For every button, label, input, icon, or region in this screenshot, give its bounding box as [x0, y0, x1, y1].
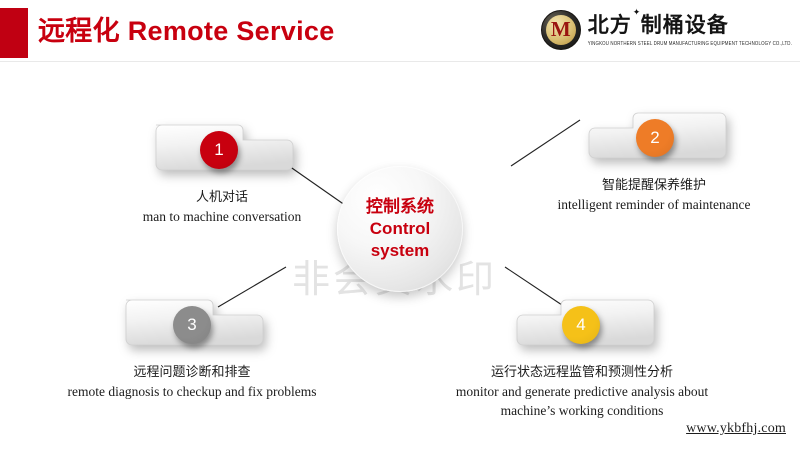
center-label-cn: 控制系统 [366, 196, 434, 218]
page-title: 远程化 Remote Service [38, 12, 335, 50]
node-4-number: 4 [576, 315, 585, 335]
logo-medallion-icon: M [541, 10, 581, 50]
header-accent-block [0, 8, 28, 58]
logo-letter: M [551, 19, 571, 40]
node-1-caption: 人机对话 man to machine conversation [86, 188, 358, 226]
logo-name-row: 北方 制桶设备 ✦ [588, 14, 792, 38]
slide-header: 远程化 Remote Service M 北方 制桶设备 ✦ YINGKOU N… [0, 0, 800, 62]
node-2-number: 2 [650, 128, 659, 148]
node-1-caption-cn: 人机对话 [86, 188, 358, 207]
node-4-caption-en-1: monitor and generate predictive analysis… [410, 382, 754, 401]
logo-text-block: 北方 制桶设备 ✦ YINGKOU NORTHERN STEEL DRUM MA… [588, 14, 792, 45]
node-3-number: 3 [187, 315, 196, 335]
node-3-badge: 3 [173, 306, 211, 344]
sparkle-icon: ✦ [633, 8, 641, 17]
node-3-caption-en-1: remote diagnosis to checkup and fix prob… [42, 382, 342, 401]
node-2-caption-cn: 智能提醒保养维护 [518, 176, 790, 195]
logo-name-primary: 北方 [588, 14, 632, 38]
node-4-caption-en-2: machine’s working conditions [410, 401, 754, 420]
footer-website-link[interactable]: www.ykbfhj.com [686, 421, 786, 437]
company-logo: M 北方 制桶设备 ✦ YINGKOU NORTHERN STEEL DRUM … [541, 7, 792, 53]
center-node-control-system: 控制系统 Control system [337, 166, 463, 292]
node-4-caption: 运行状态远程监管和预测性分析 monitor and generate pred… [410, 363, 754, 420]
node-2-caption-en-1: intelligent reminder of maintenance [518, 195, 790, 214]
center-label-en-2: system [371, 240, 430, 262]
node-4-badge: 4 [562, 306, 600, 344]
center-label-en-1: Control [370, 218, 430, 240]
node-1-badge: 1 [200, 131, 238, 169]
node-4-caption-cn: 运行状态远程监管和预测性分析 [410, 363, 754, 382]
slide-canvas: 远程化 Remote Service M 北方 制桶设备 ✦ YINGKOU N… [0, 0, 800, 450]
node-1-caption-en-1: man to machine conversation [86, 207, 358, 226]
node-1-number: 1 [214, 140, 223, 160]
node-2-badge: 2 [636, 119, 674, 157]
logo-name-secondary: 制桶设备 [641, 14, 729, 38]
node-3-caption-cn: 远程问题诊断和排查 [42, 363, 342, 382]
node-3-caption: 远程问题诊断和排查 remote diagnosis to checkup an… [42, 363, 342, 401]
logo-subtitle: YINGKOU NORTHERN STEEL DRUM MANUFACTURIN… [588, 41, 792, 47]
diagram-area: 非会员水印 控制系统 Control system 1 [0, 62, 800, 450]
node-2-caption: 智能提醒保养维护 intelligent reminder of mainten… [518, 176, 790, 214]
